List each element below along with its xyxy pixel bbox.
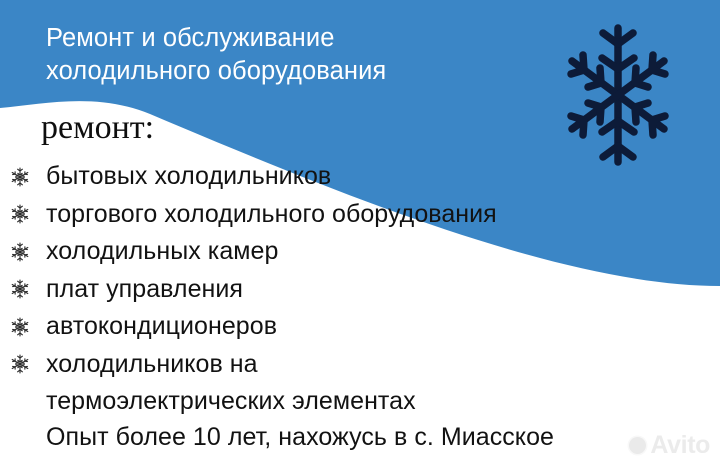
ad-card: Ремонт и обслуживание холодильного обору… xyxy=(0,0,720,472)
list-item-label: автокондиционеров xyxy=(46,308,720,346)
page-title-line-2: холодильного оборудования xyxy=(46,55,516,88)
list-item: холодильников на термоэлектрических элем… xyxy=(0,346,720,421)
avito-dot-icon xyxy=(629,437,646,454)
page-title-line-1: Ремонт и обслуживание xyxy=(46,22,516,55)
closing-note: Опыт более 10 лет, нахожусь в с. Миасско… xyxy=(46,420,554,454)
snowflake-bullet-icon xyxy=(7,308,33,346)
lead-label: ремонт: xyxy=(41,108,154,148)
list-item-label: холодильников на xyxy=(46,346,720,384)
list-item: автокондиционеров xyxy=(0,308,720,346)
page-title: Ремонт и обслуживание холодильного обору… xyxy=(46,22,516,88)
avito-watermark: Avito xyxy=(629,431,710,460)
snowflake-bullet-icon xyxy=(7,233,33,271)
list-item: торгового холодильного оборудования xyxy=(0,196,720,234)
snowflake-bullet-icon xyxy=(7,271,33,309)
list-item-label: бытовых холодильников xyxy=(46,158,720,196)
snowflake-bullet-icon xyxy=(7,196,33,234)
list-item: холодильных камер xyxy=(0,233,720,271)
service-list: бытовых холодильников xyxy=(0,158,720,421)
snowflake-icon xyxy=(566,22,670,168)
list-item-label: холодильных камер xyxy=(46,233,720,271)
list-item-label: плат управления xyxy=(46,271,720,309)
snowflake-bullet-icon xyxy=(7,158,33,196)
list-item: плат управления xyxy=(0,271,720,309)
avito-watermark-label: Avito xyxy=(650,431,710,460)
list-item-label: торгового холодильного оборудования xyxy=(46,196,720,234)
list-item: бытовых холодильников xyxy=(0,158,720,196)
list-item-label-line-2: термоэлектрических элементах xyxy=(46,383,720,421)
snowflake-bullet-icon xyxy=(7,346,33,384)
